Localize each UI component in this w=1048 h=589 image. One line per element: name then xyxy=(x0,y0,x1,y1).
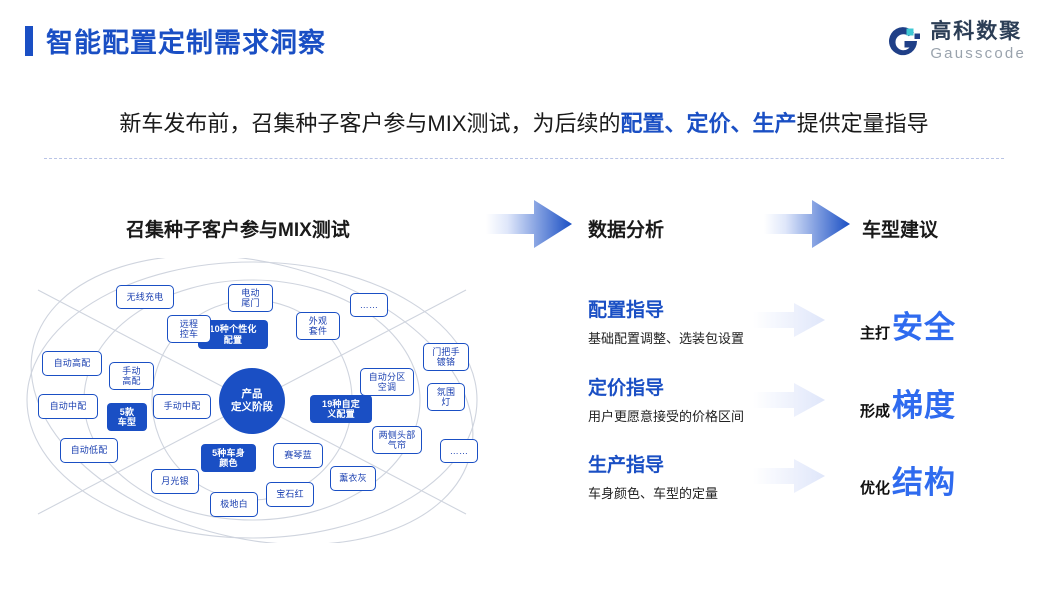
diagram-node-auto-low: 自动低配 xyxy=(60,438,118,463)
node-label-line1: 两侧头部 xyxy=(379,430,416,440)
product-definition-diagram: 产品 定义阶段 10种个性化 配置 5款 车型 5种车身 颜色 19种自定 义配… xyxy=(20,258,520,543)
node-label-line2: 高配 xyxy=(122,376,140,386)
analysis-subtitle: 车身颜色、车型的定量 xyxy=(588,483,718,502)
node-label-line1: 氛围 xyxy=(437,387,455,397)
gausscode-g-logo-icon xyxy=(883,21,923,61)
center-label-line1: 产品 xyxy=(231,388,273,401)
subtitle-part1: 新车发布前，召集种子客户参与MIX测试，为后续的 xyxy=(119,111,620,136)
column-header-collection: 召集种子客户参与MIX测试 xyxy=(126,215,350,242)
node-label-line1: 自动低配 xyxy=(71,445,108,455)
node-label-line1: 薰衣灰 xyxy=(339,473,367,483)
category-label-line1: 10种个性化 xyxy=(209,324,256,334)
diagram-category-colors: 5种车身 颜色 xyxy=(201,444,256,472)
node-label-line1: 自动中配 xyxy=(50,401,87,411)
recommendation-item-structure: 优化 结构 xyxy=(860,457,956,502)
diagram-node-ellipsis-right: …… xyxy=(440,439,478,463)
node-label-line1: 赛琴蓝 xyxy=(284,450,312,460)
diagram-node-lavender-gray: 薰衣灰 xyxy=(330,466,376,491)
column-header-recommendation: 车型建议 xyxy=(862,215,938,242)
node-label-line1: 自动高配 xyxy=(54,358,91,368)
node-label-line1: 无线充电 xyxy=(127,292,164,302)
brand-logo-text: 高科数聚 Gausscode xyxy=(930,21,1026,61)
diagram-node-polar-white: 极地白 xyxy=(210,492,258,517)
diagram-node-ruby-red: 宝石红 xyxy=(266,482,314,507)
node-label-line2: 控车 xyxy=(180,329,198,339)
node-label-line1: 远程 xyxy=(180,319,198,329)
diagram-node-side-curtain-airbag: 两侧头部 气帘 xyxy=(372,426,422,454)
category-label-line1: 19种自定 xyxy=(322,399,360,409)
recommendation-item-safety: 主打 安全 xyxy=(860,302,956,347)
category-label-line2: 车型 xyxy=(118,417,136,427)
node-label-line2: 套件 xyxy=(309,326,327,336)
analysis-subtitle: 基础配置调整、选装包设置 xyxy=(588,328,744,347)
diagram-node-wireless-charging: 无线充电 xyxy=(116,285,174,309)
title-accent-bar xyxy=(25,26,33,56)
node-label-line1: …… xyxy=(360,300,378,310)
node-label-line1: 手动 xyxy=(122,366,140,376)
diagram-center-node: 产品 定义阶段 xyxy=(219,368,285,434)
diagram-node-door-handle-chrome: 门把手 镀铬 xyxy=(423,343,469,371)
node-label-line1: 外观 xyxy=(309,316,327,326)
analysis-item-pricing: 定价指导 用户更愿意接受的价格区间 xyxy=(588,378,744,425)
subtitle-highlight: 配置、定价、生产 xyxy=(621,111,797,136)
diagram-node-power-tailgate: 电动 尾门 xyxy=(228,284,273,312)
analysis-title: 定价指导 xyxy=(588,378,744,400)
diagram-node-remote-control: 远程 控车 xyxy=(167,315,211,343)
analysis-subtitle: 用户更愿意接受的价格区间 xyxy=(588,406,744,425)
diagram-node-auto-zone-ac: 自动分区 空调 xyxy=(360,368,414,396)
node-label-line2: 灯 xyxy=(437,397,455,407)
page-title: 智能配置定制需求洞察 xyxy=(46,21,326,60)
analysis-title: 生产指导 xyxy=(588,455,718,477)
node-label-line2: 空调 xyxy=(369,382,406,392)
node-label-line2: 尾门 xyxy=(241,298,259,308)
node-label-line1: 自动分区 xyxy=(369,372,406,382)
diagram-node-manual-mid: 手动中配 xyxy=(153,394,211,419)
diagram-node-ambient-light: 氛围 灯 xyxy=(427,383,465,411)
section-divider xyxy=(44,158,1004,159)
recommendation-keyword: 结构 xyxy=(892,457,956,502)
diagram-node-auto-high: 自动高配 xyxy=(42,351,102,376)
recommendation-item-tier: 形成 梯度 xyxy=(860,380,956,425)
brand-name-en: Gausscode xyxy=(930,46,1026,61)
recommendation-keyword: 安全 xyxy=(892,302,956,347)
analysis-title: 配置指导 xyxy=(588,300,744,322)
node-label-line1: 电动 xyxy=(241,288,259,298)
diagram-node-manual-high: 手动 高配 xyxy=(109,362,154,390)
category-label-line1: 5种车身 xyxy=(212,448,245,458)
row-arrow-2-icon xyxy=(753,383,825,417)
node-label-line1: 月光银 xyxy=(161,476,189,486)
brand-logo: 高科数聚 Gausscode xyxy=(883,18,1026,64)
node-label-line1: 宝石红 xyxy=(276,489,304,499)
diagram-node-sapphire-blue: 赛琴蓝 xyxy=(273,443,323,468)
recommendation-prefix: 主打 xyxy=(860,322,890,343)
diagram-node-ellipsis-top: …… xyxy=(350,293,388,317)
category-label-line1: 5款 xyxy=(118,407,136,417)
diagram-node-moonlight-silver: 月光银 xyxy=(151,469,199,494)
node-label-line1: …… xyxy=(450,446,468,456)
category-label-line2: 义配置 xyxy=(322,409,360,419)
diagram-node-appearance-kit: 外观 套件 xyxy=(296,312,340,340)
recommendation-prefix: 优化 xyxy=(860,477,890,498)
diagram-category-custom: 19种自定 义配置 xyxy=(310,395,372,423)
row-arrow-1-icon xyxy=(753,303,825,337)
subtitle-part2: 提供定量指导 xyxy=(797,111,929,136)
analysis-item-configuration: 配置指导 基础配置调整、选装包设置 xyxy=(588,300,744,347)
subtitle: 新车发布前，召集种子客户参与MIX测试，为后续的配置、定价、生产提供定量指导 xyxy=(0,106,1048,138)
category-label-line2: 颜色 xyxy=(212,458,245,468)
diagram-node-auto-mid: 自动中配 xyxy=(38,394,98,419)
flow-arrow-1-icon xyxy=(486,200,572,248)
recommendation-keyword: 梯度 xyxy=(892,380,956,425)
diagram-category-models: 5款 车型 xyxy=(107,403,147,431)
recommendation-prefix: 形成 xyxy=(860,400,890,421)
node-label-line2: 气帘 xyxy=(379,440,416,450)
analysis-item-production: 生产指导 车身颜色、车型的定量 xyxy=(588,455,718,502)
brand-name-cn: 高科数聚 xyxy=(930,21,1026,42)
page-header: 智能配置定制需求洞察 高科数聚 Gausscode xyxy=(0,0,1048,78)
node-label-line1: 门把手 xyxy=(432,347,460,357)
node-label-line1: 手动中配 xyxy=(164,401,201,411)
center-label-line2: 定义阶段 xyxy=(231,401,273,414)
flow-arrow-2-icon xyxy=(764,200,850,248)
category-label-line2: 配置 xyxy=(209,335,256,345)
row-arrow-3-icon xyxy=(753,459,825,493)
node-label-line2: 镀铬 xyxy=(432,357,460,367)
column-header-analysis: 数据分析 xyxy=(588,215,664,242)
node-label-line1: 极地白 xyxy=(220,499,248,509)
